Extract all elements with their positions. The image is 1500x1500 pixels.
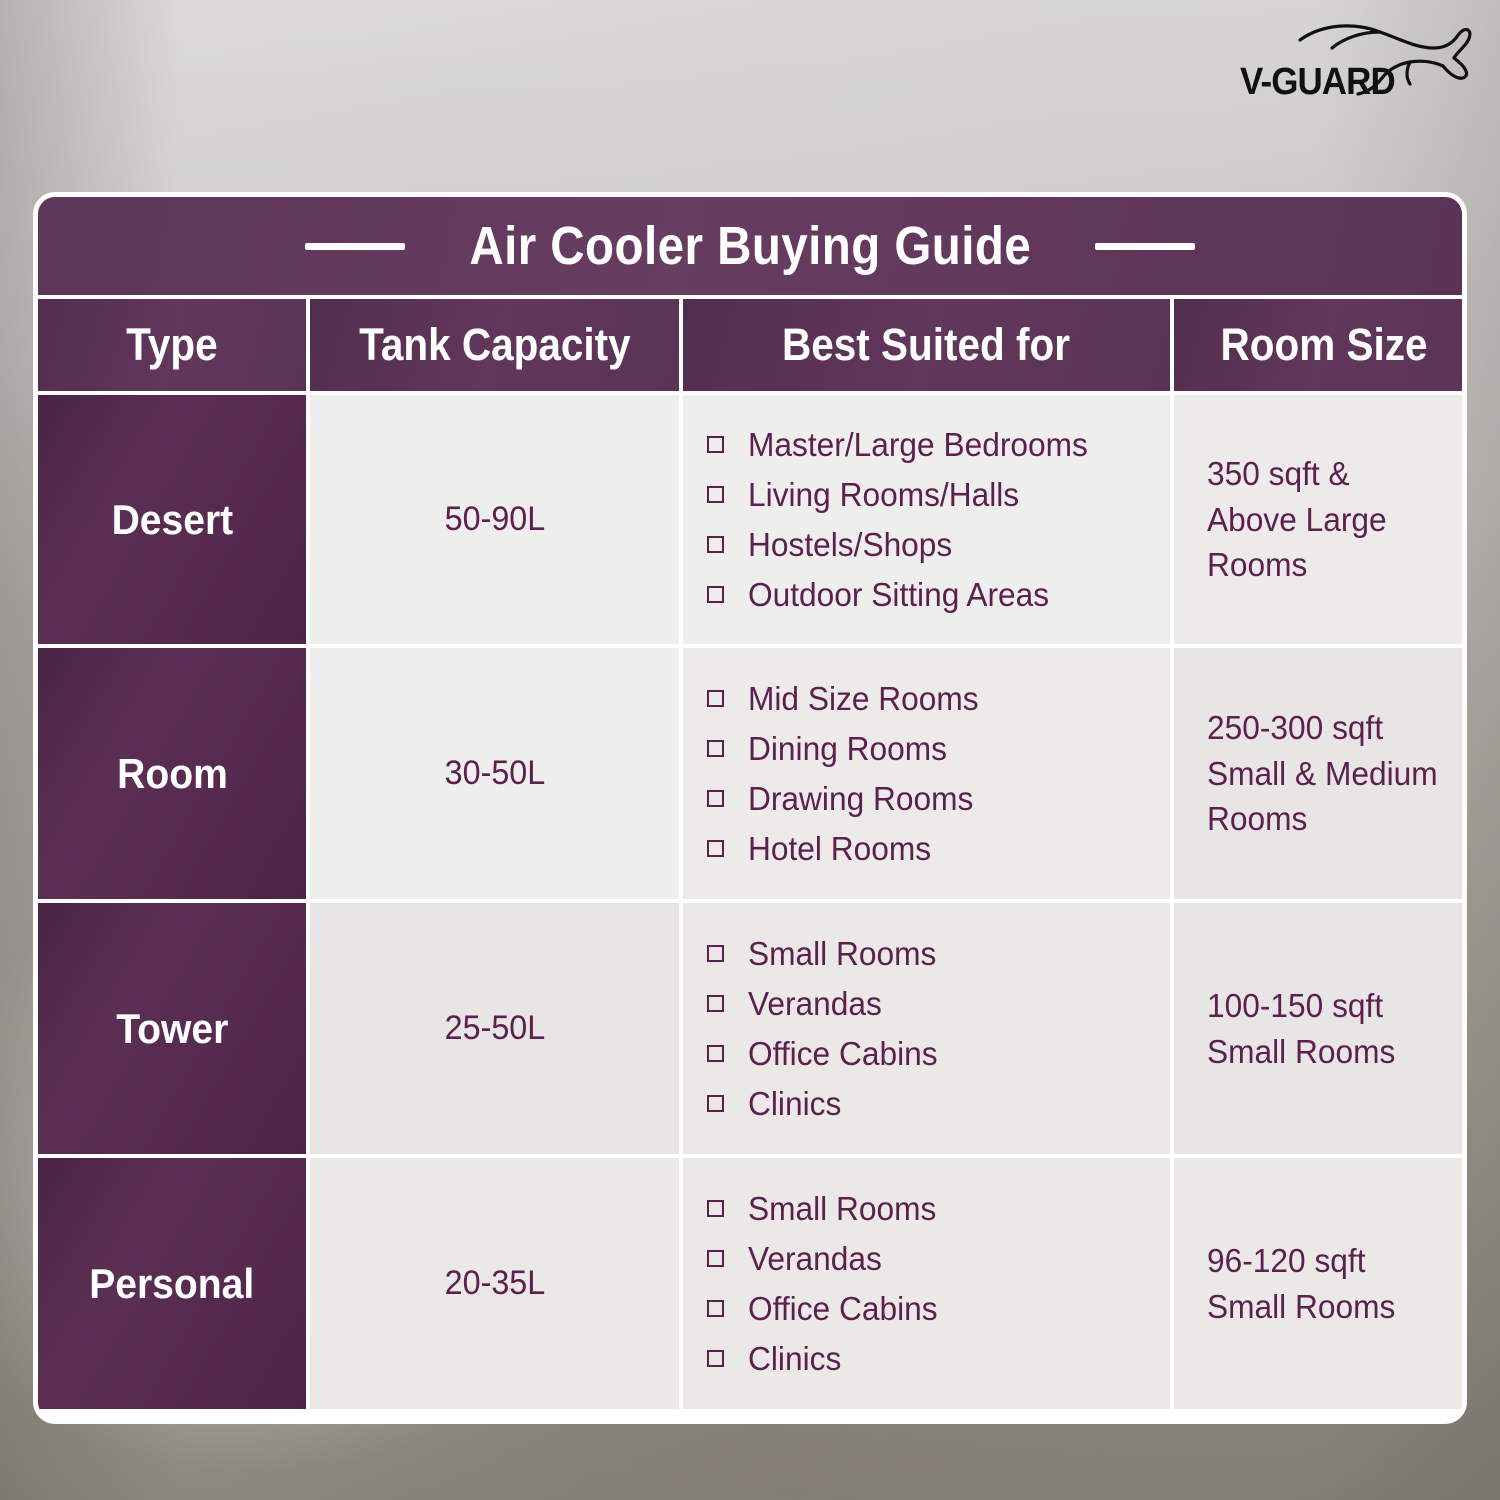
square-bullet-icon: [707, 1300, 724, 1317]
table-row-capacity-cell: 30-50L: [310, 648, 679, 899]
table-row-capacity-cell: 25-50L: [310, 903, 679, 1154]
tank-capacity-value: 30-50L: [444, 754, 545, 793]
list-item: Clinics: [707, 1085, 945, 1123]
square-bullet-icon: [707, 486, 724, 503]
list-item: Mid Size Rooms: [707, 680, 988, 718]
square-bullet-icon: [707, 740, 724, 757]
table-row-room-size-cell: 250-300 sqft Small & Medium Rooms: [1174, 648, 1467, 899]
list-item: Verandas: [707, 1240, 945, 1278]
list-item: Living Rooms/Halls: [707, 476, 1102, 514]
column-header-best-suited-for: Best Suited for: [683, 299, 1170, 391]
table-row-suited-cell: Master/Large Bedrooms Living Rooms/Halls…: [683, 395, 1170, 644]
table-row-type-cell: Desert: [38, 395, 306, 644]
list-item: Clinics: [707, 1340, 945, 1378]
square-bullet-icon: [707, 1045, 724, 1062]
square-bullet-icon: [707, 1095, 724, 1112]
guide-table: Type Tank Capacity Best Suited for Room …: [38, 299, 1462, 1419]
table-row-suited-cell: Mid Size Rooms Dining Rooms Drawing Room…: [683, 648, 1170, 899]
list-item: Small Rooms: [707, 1190, 945, 1228]
tank-capacity-value: 20-35L: [444, 1264, 545, 1303]
square-bullet-icon: [707, 1200, 724, 1217]
brand-wordmark: V-GUARD: [1240, 61, 1395, 104]
column-header-label: Tank Capacity: [359, 319, 631, 371]
table-row-type-cell: Tower: [38, 903, 306, 1154]
square-bullet-icon: [707, 790, 724, 807]
cooler-type-label: Desert: [111, 496, 233, 544]
suited-list: Mid Size Rooms Dining Rooms Drawing Room…: [707, 680, 988, 868]
square-bullet-icon: [707, 1350, 724, 1367]
suited-list: Small Rooms Verandas Office Cabins Clini…: [707, 1190, 945, 1378]
column-header-tank-capacity: Tank Capacity: [310, 299, 679, 391]
list-item: Hostels/Shops: [707, 526, 1102, 564]
title-dash-right: [1095, 243, 1195, 250]
table-row-capacity-cell: 20-35L: [310, 1158, 679, 1409]
suited-list: Small Rooms Verandas Office Cabins Clini…: [707, 935, 945, 1123]
square-bullet-icon: [707, 1250, 724, 1267]
cooler-type-label: Tower: [116, 1005, 228, 1053]
list-item: Master/Large Bedrooms: [707, 426, 1102, 464]
list-item: Office Cabins: [707, 1035, 945, 1073]
square-bullet-icon: [707, 840, 724, 857]
title-dash-left: [305, 243, 405, 250]
table-row-capacity-cell: 50-90L: [310, 395, 679, 644]
column-header-label: Best Suited for: [782, 319, 1070, 371]
room-size-value: 100-150 sqft Small Rooms: [1207, 983, 1395, 1074]
list-item: Outdoor Sitting Areas: [707, 576, 1102, 614]
table-row-room-size-cell: 96-120 sqft Small Rooms: [1174, 1158, 1467, 1409]
vguard-logo: V-GUARD: [1228, 18, 1478, 118]
table-row-type-cell: Personal: [38, 1158, 306, 1409]
column-header-label: Type: [126, 319, 218, 371]
table-row-room-size-cell: 100-150 sqft Small Rooms: [1174, 903, 1467, 1154]
card-title-bar: Air Cooler Buying Guide: [38, 197, 1462, 299]
cooler-type-label: Room: [117, 750, 228, 798]
square-bullet-icon: [707, 436, 724, 453]
column-header-type: Type: [38, 299, 306, 391]
table-row-suited-cell: Small Rooms Verandas Office Cabins Clini…: [683, 903, 1170, 1154]
column-header-room-size: Room Size: [1174, 299, 1467, 391]
column-header-label: Room Size: [1220, 319, 1427, 371]
square-bullet-icon: [707, 586, 724, 603]
tank-capacity-value: 25-50L: [444, 1009, 545, 1048]
list-item: Hotel Rooms: [707, 830, 988, 868]
square-bullet-icon: [707, 690, 724, 707]
table-row-type-cell: Room: [38, 648, 306, 899]
list-item: Office Cabins: [707, 1290, 945, 1328]
square-bullet-icon: [707, 945, 724, 962]
list-item: Drawing Rooms: [707, 780, 988, 818]
square-bullet-icon: [707, 995, 724, 1012]
room-size-value: 250-300 sqft Small & Medium Rooms: [1207, 705, 1438, 842]
suited-list: Master/Large Bedrooms Living Rooms/Halls…: [707, 426, 1102, 614]
table-row-room-size-cell: 350 sqft & Above Large Rooms: [1174, 395, 1467, 644]
list-item: Small Rooms: [707, 935, 945, 973]
list-item: Dining Rooms: [707, 730, 988, 768]
tank-capacity-value: 50-90L: [444, 500, 545, 539]
buying-guide-card: Air Cooler Buying Guide Type Tank Capaci…: [33, 192, 1467, 1424]
cooler-type-label: Personal: [89, 1260, 254, 1308]
room-size-value: 350 sqft & Above Large Rooms: [1207, 451, 1387, 588]
list-item: Verandas: [707, 985, 945, 1023]
table-row-suited-cell: Small Rooms Verandas Office Cabins Clini…: [683, 1158, 1170, 1409]
room-size-value: 96-120 sqft Small Rooms: [1207, 1238, 1395, 1329]
page-title: Air Cooler Buying Guide: [469, 215, 1031, 277]
square-bullet-icon: [707, 536, 724, 553]
